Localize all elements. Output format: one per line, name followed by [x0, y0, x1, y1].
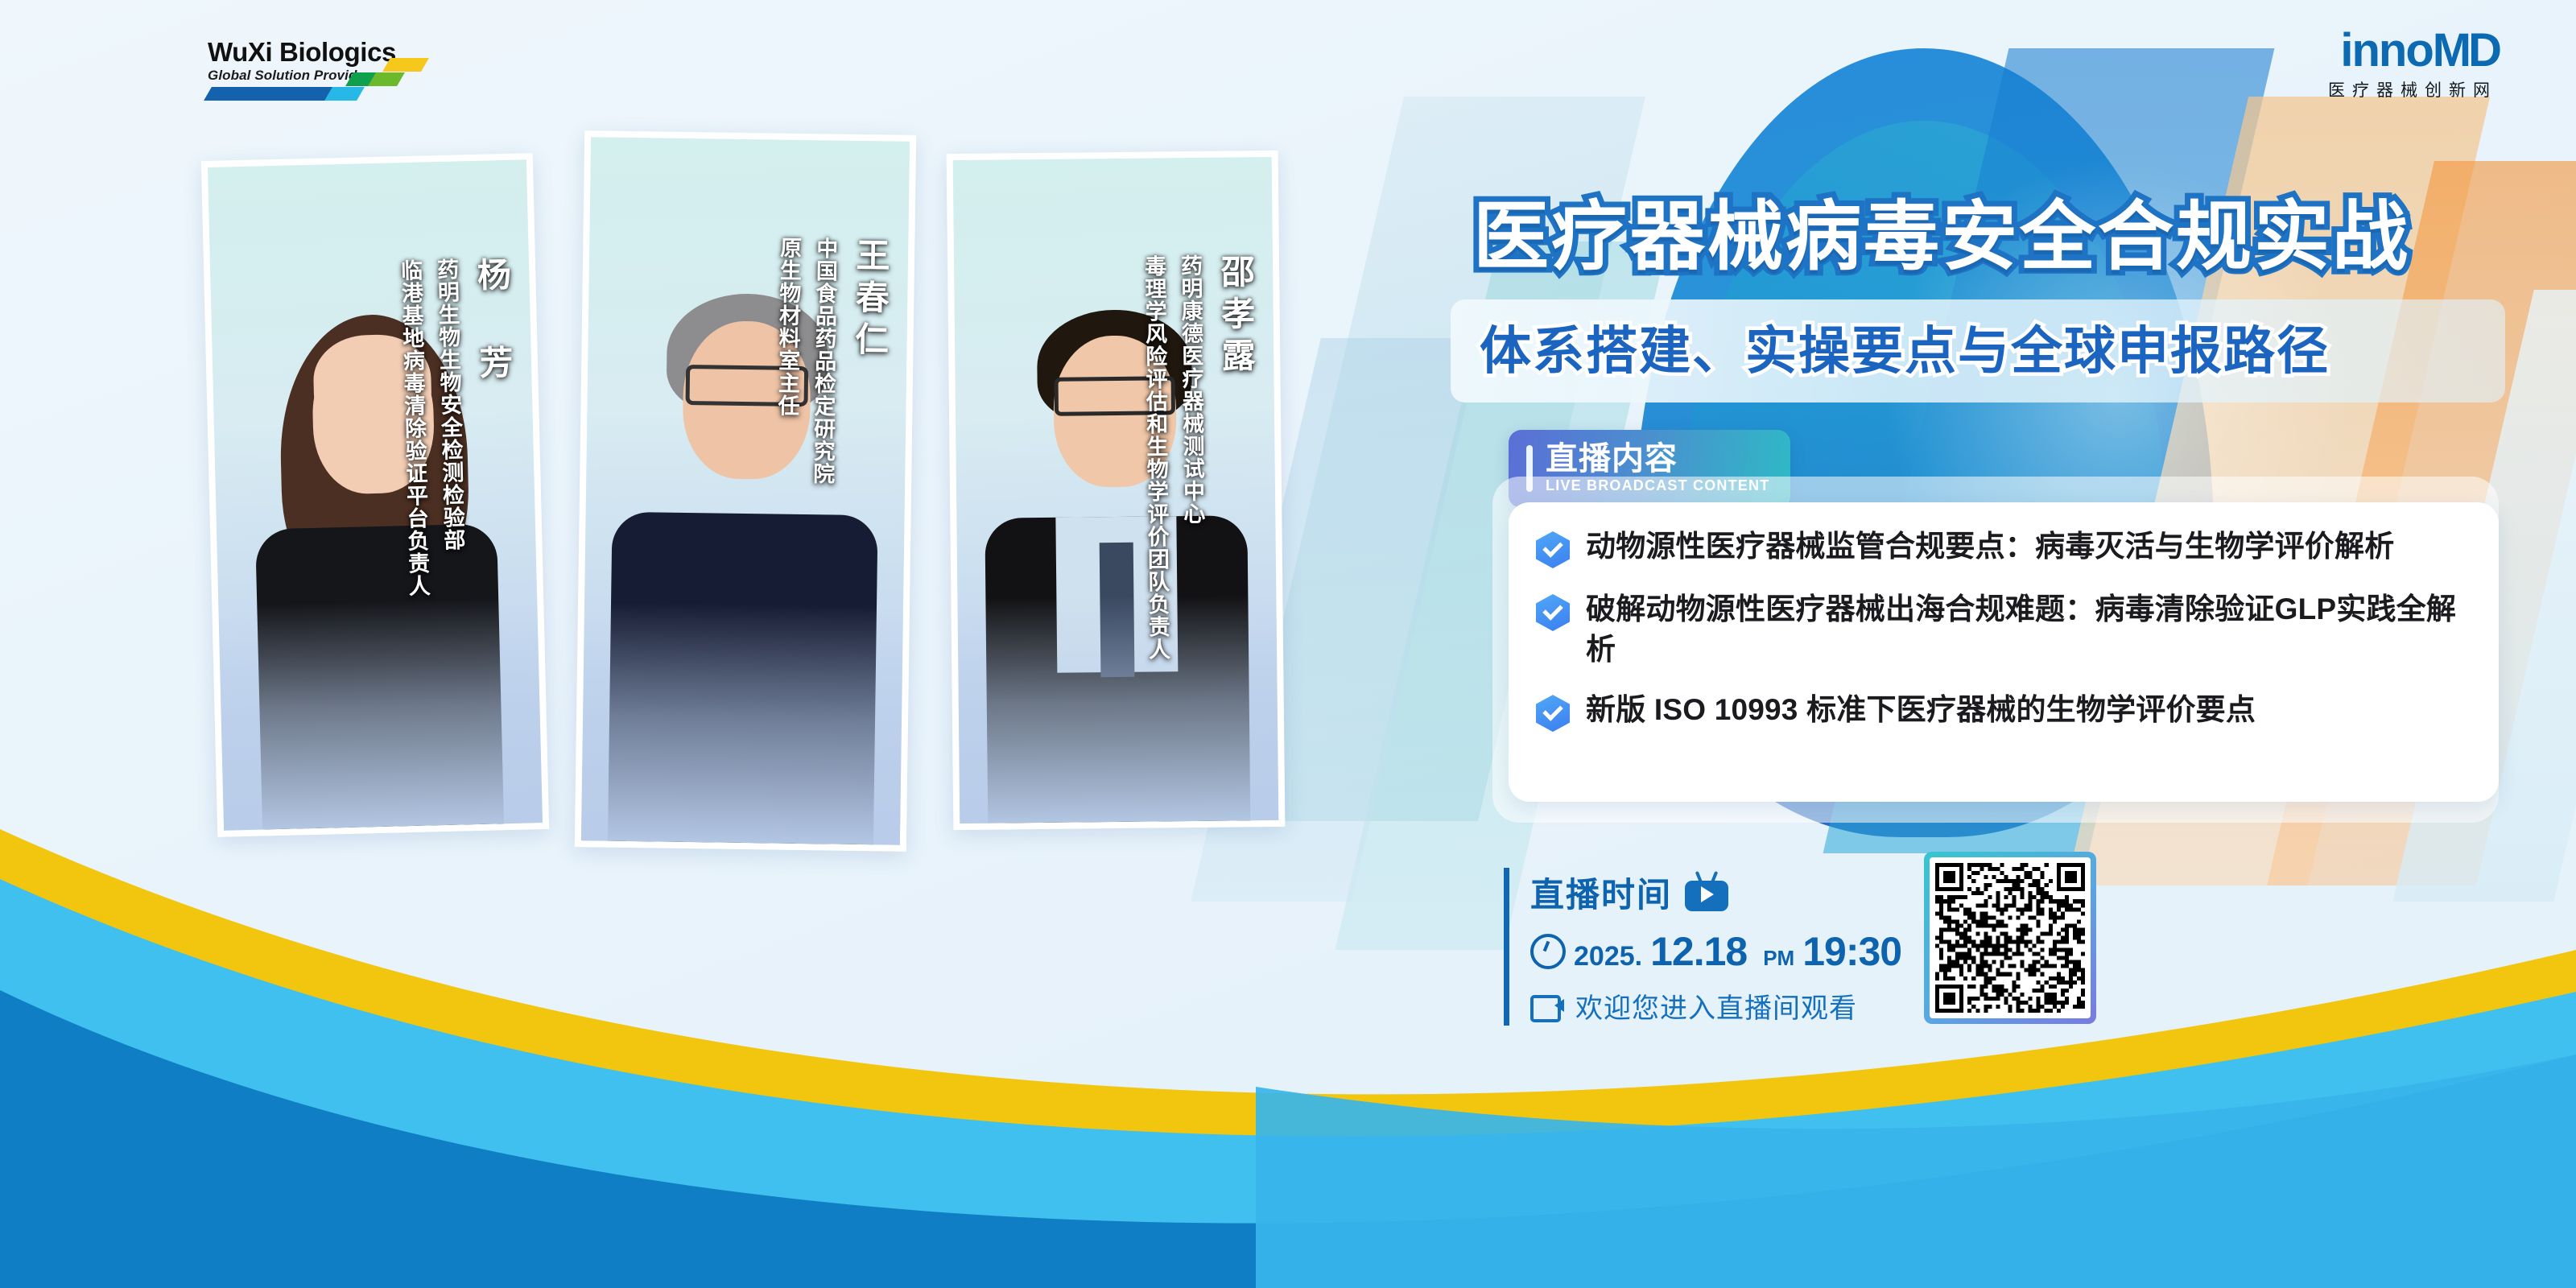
- speaker-name: 杨 芳: [467, 257, 519, 387]
- tv-play-icon: [1685, 874, 1728, 911]
- schedule-block: 直播时间 2025. 12.18 PM 19:30 欢迎您进入直播间观看: [1504, 868, 1955, 1026]
- speaker-role: 原生物材料室主任: [771, 236, 805, 417]
- video-camera-icon: [1530, 995, 1564, 1018]
- speaker-org: 药明生物生物安全检测检验部: [431, 258, 469, 551]
- page-title: 医疗器械病毒安全合规实战: [1473, 175, 2536, 285]
- list-item: 破解动物源性医疗器械出海合规难题：病毒清除验证GLP实践全解析: [1536, 589, 2463, 669]
- wuxi-logo-stripes: [208, 87, 409, 103]
- speaker-org: 药明康德医疗器械测试中心: [1174, 254, 1209, 525]
- schedule-time: 19:30: [1802, 928, 1901, 975]
- speaker-name: 邵孝露: [1211, 254, 1261, 380]
- clock-icon: [1530, 934, 1566, 969]
- speaker-caption: 杨 芳 药明生物生物安全检测检验部 临港基地病毒清除验证平台负责人: [392, 159, 543, 826]
- agenda-item-text: 新版 ISO 10993 标准下医疗器械的生物学评价要点: [1586, 690, 2256, 730]
- page-subtitle: 体系搭建、实操要点与全球申报路径: [1480, 310, 2526, 384]
- schedule-datetime-row: 2025. 12.18 PM 19:30: [1530, 928, 1955, 975]
- speaker-role: 毒理学风险评估和生物学评价团队负责人: [1138, 254, 1174, 660]
- speaker-caption: 邵孝露 药明康德医疗器械测试中心 毒理学风险评估和生物学评价团队负责人: [1137, 157, 1279, 822]
- speaker-name: 王春仁: [844, 237, 895, 364]
- speaker-org: 中国食品药品检定研究院: [807, 237, 841, 485]
- schedule-welcome-text: 欢迎您进入直播间观看: [1575, 986, 1857, 1026]
- schedule-heading-row: 直播时间: [1530, 868, 1955, 917]
- list-item: 动物源性医疗器械监管合规要点：病毒灭活与生物学评价解析: [1536, 526, 2463, 568]
- wuxi-logo-name: WuXi Biologics: [208, 39, 417, 65]
- live-content-title-cn: 直播内容: [1546, 443, 1769, 476]
- speaker-card: 邵孝露 药明康德医疗器械测试中心 毒理学风险评估和生物学评价团队负责人: [947, 151, 1286, 830]
- schedule-date: 12.18: [1650, 928, 1747, 975]
- wuxi-biologics-logo: WuXi Biologics Global Solution Provider: [208, 39, 417, 101]
- speaker-card: 王春仁 中国食品药品检定研究院 原生物材料室主任: [575, 130, 916, 852]
- schedule-meridiem: PM: [1763, 946, 1794, 971]
- agenda-item-text: 破解动物源性医疗器械出海合规难题：病毒清除验证GLP实践全解析: [1586, 589, 2463, 669]
- speaker-caption: 王春仁 中国食品药品检定研究院 原生物材料室主任: [766, 139, 910, 844]
- qr-code[interactable]: [1924, 852, 2096, 1024]
- speaker-card-group: 杨 芳 药明生物生物安全检测检验部 临港基地病毒清除验证平台负责人 王春仁 中国…: [201, 141, 1344, 890]
- agenda-list: 动物源性医疗器械监管合规要点：病毒灭活与生物学评价解析 破解动物源性医疗器械出海…: [1509, 502, 2499, 802]
- check-badge-icon: [1536, 531, 1570, 568]
- schedule-year: 2025.: [1574, 941, 1642, 972]
- schedule-welcome-row: 欢迎您进入直播间观看: [1530, 986, 1955, 1026]
- check-badge-icon: [1536, 695, 1570, 732]
- content-column: 医疗器械病毒安全合规实战 体系搭建、实操要点与全球申报路径 直播内容 LIVE …: [1441, 0, 2552, 1288]
- poster-canvas: WuXi Biologics Global Solution Provider …: [0, 0, 2576, 1288]
- check-badge-icon: [1536, 594, 1570, 631]
- agenda-item-text: 动物源性医疗器械监管合规要点：病毒灭活与生物学评价解析: [1586, 526, 2394, 567]
- schedule-label: 直播时间: [1530, 868, 1672, 917]
- speaker-card: 杨 芳 药明生物生物安全检测检验部 临港基地病毒清除验证平台负责人: [201, 153, 549, 837]
- list-item: 新版 ISO 10993 标准下医疗器械的生物学评价要点: [1536, 690, 2463, 732]
